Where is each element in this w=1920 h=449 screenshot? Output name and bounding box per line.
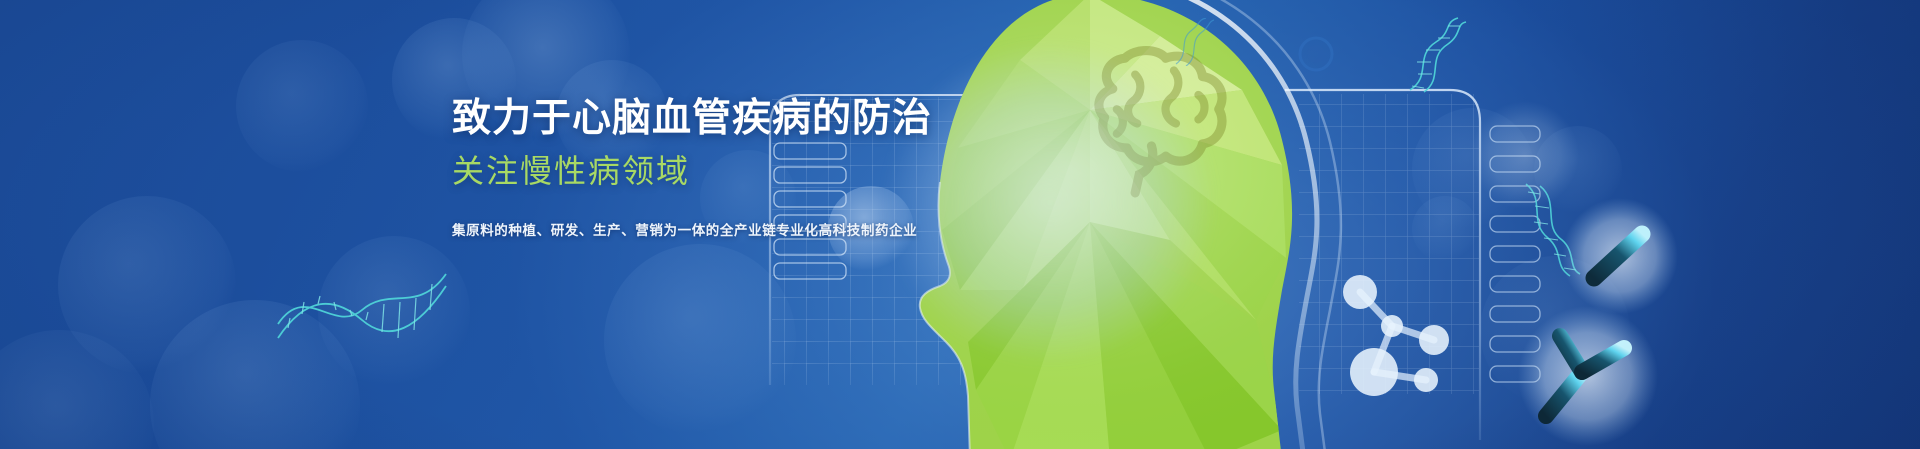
page-title: 致力于心脑血管疾病的防治 (452, 96, 1152, 142)
banner-copy: 致力于心脑血管疾病的防治 关注慢性病领域 集原料的种植、研发、生产、营销为一体的… (452, 96, 1152, 239)
headline-primary: 致力于 (452, 97, 572, 140)
page-tagline: 集原料的种植、研发、生产、营销为一体的全产业链专业化高科技制药企业 (452, 219, 1152, 239)
headline-suffix: 的防治 (812, 97, 932, 140)
page-subtitle: 关注慢性病领域 (452, 152, 1152, 190)
hero-banner: 致力于心脑血管疾病的防治 关注慢性病领域 集原料的种植、研发、生产、营销为一体的… (0, 0, 1920, 449)
headline-emphasis: 心脑血管疾病 (572, 97, 812, 140)
